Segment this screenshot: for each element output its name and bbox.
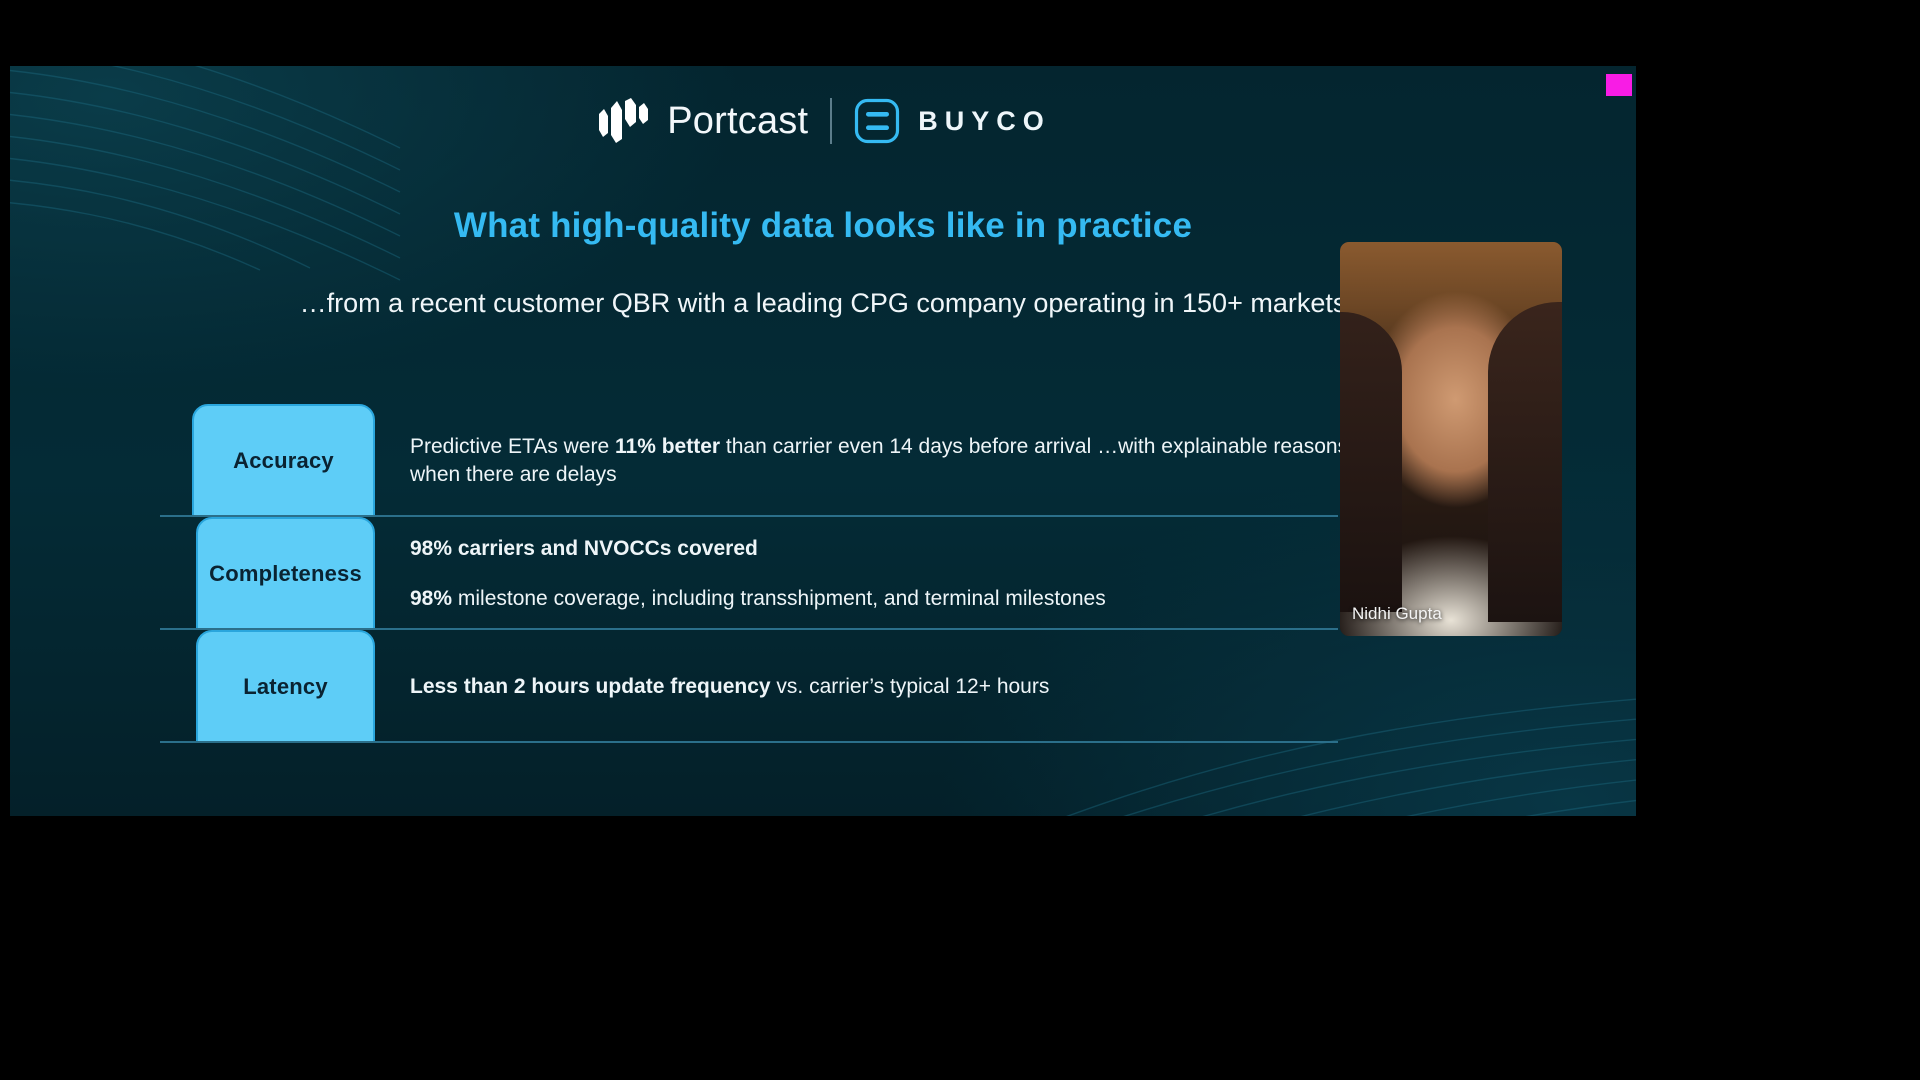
metric-line: 98% milestone coverage, including transs…	[410, 585, 1390, 612]
metric-pill-completeness: Completeness	[196, 517, 375, 630]
metric-body-accuracy: Predictive ETAs were 11% better than car…	[375, 404, 1410, 517]
magenta-marker	[1606, 74, 1632, 96]
logo-bar: Portcast BUYCO	[10, 98, 1636, 144]
metric-pill-label: Latency	[243, 674, 328, 700]
row-divider	[160, 741, 1338, 743]
vertical-divider	[830, 98, 832, 144]
metric-line: Less than 2 hours update frequency vs. c…	[410, 673, 1390, 700]
webcam-video-feed	[1340, 242, 1562, 636]
webcam-image-detail	[1340, 312, 1402, 612]
portcast-logo-lockup: Portcast	[595, 98, 808, 144]
metric-body-latency: Less than 2 hours update frequency vs. c…	[375, 630, 1410, 743]
buyco-wordmark: BUYCO	[918, 106, 1051, 137]
portcast-wordmark: Portcast	[667, 100, 808, 143]
metric-pill-column: Completeness	[160, 517, 375, 630]
metric-row-completeness: Completeness 98% carriers and NVOCCs cov…	[160, 517, 1410, 630]
metric-pill-latency: Latency	[196, 630, 375, 743]
metric-body-completeness: 98% carriers and NVOCCs covered 98% mile…	[375, 517, 1410, 630]
metric-row-accuracy: Accuracy Predictive ETAs were 11% better…	[160, 404, 1410, 517]
slide-title: What high-quality data looks like in pra…	[10, 206, 1636, 246]
buyco-logo-lockup: BUYCO	[854, 98, 1051, 144]
metric-pill-column: Accuracy	[160, 404, 375, 517]
metric-pill-column: Latency	[160, 630, 375, 743]
screen: Portcast BUYCO What high-quality data lo…	[0, 0, 1920, 1080]
metrics-list: Accuracy Predictive ETAs were 11% better…	[160, 404, 1410, 743]
metric-pill-accuracy: Accuracy	[192, 404, 375, 517]
metric-line: 98% carriers and NVOCCs covered	[410, 535, 1390, 562]
participant-name-label: Nidhi Gupta	[1352, 604, 1442, 624]
metric-pill-label: Completeness	[209, 561, 362, 587]
webcam-tile[interactable]: Nidhi Gupta	[1340, 242, 1562, 636]
webcam-image-detail	[1488, 302, 1562, 622]
metric-row-latency: Latency Less than 2 hours update frequen…	[160, 630, 1410, 743]
metric-line: Predictive ETAs were 11% better than car…	[410, 433, 1390, 488]
metric-pill-label: Accuracy	[233, 448, 334, 474]
buyco-rounded-square-icon	[854, 98, 900, 144]
portcast-waveform-icon	[595, 98, 649, 144]
